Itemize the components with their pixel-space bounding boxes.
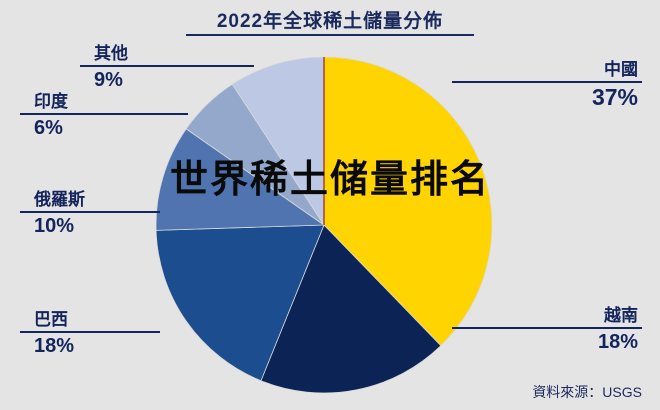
pie-label-brazil-rule bbox=[20, 331, 160, 334]
chart-canvas: 2022年全球稀土儲量分佈 其他 9% 印度 6% 俄羅斯 10% 巴西 18%… bbox=[0, 0, 660, 410]
pie-chart bbox=[156, 57, 492, 393]
pie-label-india-name: 印度 bbox=[34, 92, 188, 112]
pie-label-india-rule bbox=[20, 113, 188, 116]
pie-svg bbox=[156, 57, 492, 393]
pie-label-russia-value: 10% bbox=[34, 214, 160, 238]
pie-label-brazil-name: 巴西 bbox=[34, 310, 160, 330]
page-title: 2022年全球稀土儲量分佈 bbox=[0, 6, 660, 33]
pie-label-china-rule bbox=[452, 81, 642, 84]
source-label: 資料來源：USGS bbox=[532, 382, 642, 402]
pie-label-india-value: 6% bbox=[34, 116, 188, 140]
pie-label-india: 印度 6% bbox=[20, 92, 188, 140]
pie-label-russia-rule bbox=[20, 211, 160, 214]
pie-label-vietnam-value: 18% bbox=[452, 330, 638, 354]
pie-label-brazil-value: 18% bbox=[34, 334, 160, 358]
title-underline bbox=[186, 34, 474, 36]
pie-label-other-rule bbox=[80, 65, 254, 68]
pie-label-other: 其他 9% bbox=[80, 44, 254, 92]
pie-label-vietnam-rule bbox=[452, 327, 642, 330]
pie-label-vietnam: 越南 18% bbox=[452, 306, 642, 354]
pie-label-other-name: 其他 bbox=[94, 44, 254, 64]
pie-label-brazil: 巴西 18% bbox=[20, 310, 160, 358]
overlay-headline: 世界稀土储量排名 bbox=[0, 148, 660, 203]
pie-label-other-value: 9% bbox=[94, 68, 254, 92]
pie-label-china-value: 37% bbox=[452, 84, 638, 112]
pie-label-vietnam-name: 越南 bbox=[452, 306, 638, 326]
pie-label-china-name: 中國 bbox=[452, 60, 638, 80]
pie-label-china: 中國 37% bbox=[452, 60, 642, 112]
